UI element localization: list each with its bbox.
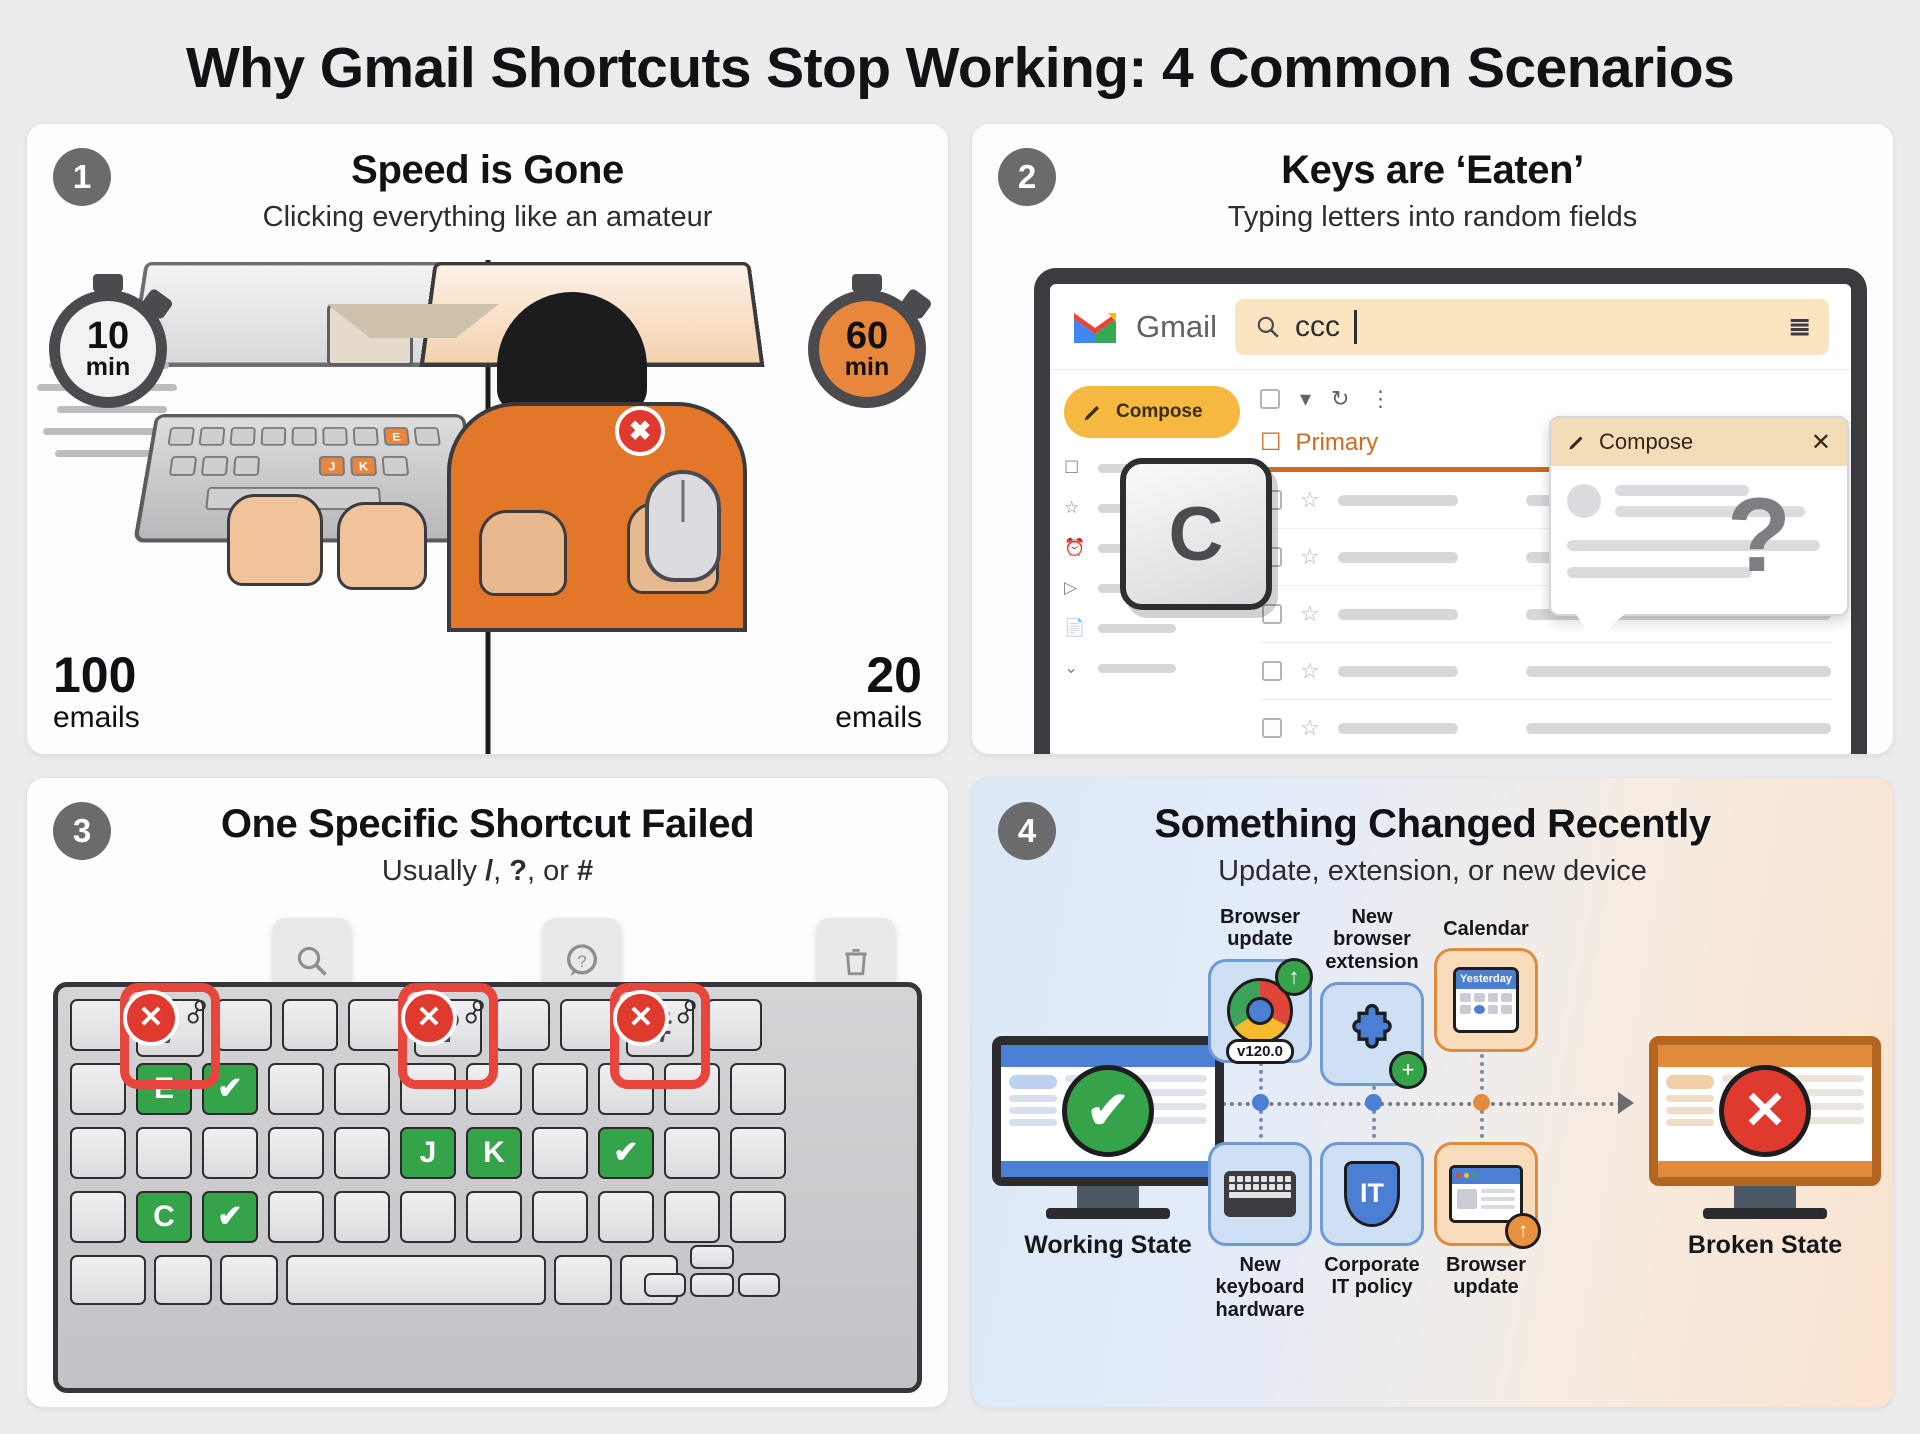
calendar-day-label: Yesterday <box>1456 970 1516 989</box>
row-checkbox[interactable] <box>1262 661 1282 681</box>
envelope-icon <box>327 304 413 366</box>
list-toolbar: ▾ ↻ ⋮ <box>1260 386 1833 412</box>
trash-icon <box>839 944 873 978</box>
cause-label: Calendar <box>1434 918 1538 941</box>
stopwatch-unit: min <box>845 354 889 380</box>
question-mark-glyph: ? <box>1727 483 1791 588</box>
keyboard-key <box>664 1191 720 1243</box>
keyboard-key <box>494 999 550 1051</box>
monitor-base <box>1046 1208 1170 1219</box>
draft-icon: 📄 <box>1064 618 1084 638</box>
cause-icon-box: Yesterday <box>1434 948 1538 1052</box>
panel-number-badge: 3 <box>53 802 111 860</box>
avatar <box>1567 484 1601 518</box>
email-count-label: emails <box>835 700 922 736</box>
inbox-icon: ☐ <box>1064 458 1084 478</box>
plus-badge-icon: + <box>1389 1051 1427 1089</box>
keyboard-illustration: / ? # E ✔ <box>53 982 922 1394</box>
gmail-toolbar: Gmail ccc ≣ <box>1050 284 1851 370</box>
keyboard-key <box>268 1191 324 1243</box>
keyboard-key <box>400 1191 456 1243</box>
subtitle-prefix: Usually <box>382 855 485 887</box>
keyboard-key <box>261 427 287 446</box>
compose-popup: Compose ✕ ? <box>1549 416 1849 616</box>
keyboard-key <box>348 999 404 1051</box>
cause-icon-box <box>1208 1142 1312 1246</box>
speed-line <box>55 450 160 457</box>
state-working: ✔ Working State <box>992 1036 1224 1260</box>
search-value: ccc <box>1295 310 1340 344</box>
compose-popup-body <box>1551 466 1847 596</box>
panel-illustration: Gmail ccc ≣ <box>972 252 1893 754</box>
keyboard-key <box>268 1127 324 1179</box>
subtitle-join: , <box>493 855 509 887</box>
keyboard-key <box>70 1255 146 1305</box>
mouse-icon <box>645 470 721 582</box>
panel-subtitle: Update, extension, or new device <box>992 855 1873 888</box>
filter-options-icon[interactable]: ≣ <box>1788 311 1809 342</box>
flow-node <box>1252 1094 1269 1111</box>
keyboard-key-J: J <box>400 1127 456 1179</box>
stopwatch-10min: 10 min <box>49 290 167 408</box>
keyboard-key <box>730 1063 786 1115</box>
panel-title: Keys are ‘Eaten’ <box>992 148 1873 192</box>
state-broken: ✕ Broken State <box>1649 1036 1881 1260</box>
keyboard-key-check: ✔ <box>202 1191 258 1243</box>
keyboard-key <box>532 1127 588 1179</box>
compose-label: Compose <box>1116 401 1203 423</box>
panel-subtitle: Typing letters into random fields <box>992 201 1873 234</box>
keyboard-key <box>70 1191 126 1243</box>
browser-titlebar <box>1658 1045 1872 1067</box>
stopwatch-unit: min <box>86 354 130 380</box>
infographic-page: Why Gmail Shortcuts Stop Working: 4 Comm… <box>0 0 1920 1434</box>
calendar-icon: Yesterday <box>1453 967 1519 1033</box>
keyboard-key-check: ✔ <box>598 1127 654 1179</box>
panel-title: One Specific Shortcut Failed <box>47 802 928 846</box>
keyboard-key <box>136 1127 192 1179</box>
shield-it-icon: IT <box>1344 1161 1400 1227</box>
red-x-badge: ✖ <box>615 406 665 456</box>
keyboard-key <box>664 1127 720 1179</box>
panel-keys-are-eaten: 2 Keys are ‘Eaten’ Typing letters into r… <box>971 123 1894 755</box>
star-icon[interactable]: ☆ <box>1300 544 1320 570</box>
flow-node <box>1473 1094 1490 1111</box>
panel-grid: 1 Speed is Gone Clicking everything like… <box>26 123 1894 1408</box>
email-count-number: 100 <box>53 650 140 700</box>
keyboard-key-K: K <box>466 1127 522 1179</box>
panel-one-specific-shortcut-failed: 3 One Specific Shortcut Failed Usually /… <box>26 777 949 1409</box>
panel-title: Speed is Gone <box>47 148 928 192</box>
stopwatch-60min: 60 min <box>808 290 926 408</box>
panel-title: Something Changed Recently <box>992 802 1873 846</box>
keyboard-key <box>70 1127 126 1179</box>
keyboard-key <box>560 999 616 1051</box>
keyboard-key <box>554 1255 612 1305</box>
keyboard-key <box>154 1255 212 1305</box>
sidebar-item[interactable]: ⌄ <box>1064 658 1236 678</box>
panel-number-badge: 1 <box>53 148 111 206</box>
keyboard-key <box>730 1191 786 1243</box>
broken-key-status: ✕ <box>401 990 457 1046</box>
broken-key-status: ✕ <box>123 990 179 1046</box>
arrow-up-badge-icon: ↑ <box>1505 1213 1541 1249</box>
gmail-logo-icon <box>1072 310 1118 344</box>
browser-window-icon <box>1449 1165 1523 1223</box>
chevron-down-icon[interactable]: ▾ <box>1300 386 1311 412</box>
cause-label: Browser update <box>1434 1254 1538 1300</box>
monitor-stand <box>1077 1186 1139 1208</box>
cause-icon-box: ↑ v120.0 <box>1208 959 1312 1063</box>
state-label-working: Working State <box>992 1231 1224 1260</box>
close-icon[interactable]: ✕ <box>1811 428 1831 457</box>
cause-icon-box: + <box>1320 982 1424 1086</box>
stopwatch-stem <box>852 274 882 292</box>
cause-calendar: Calendar Yesterday <box>1434 918 1538 1053</box>
broken-key-status: ✕ <box>613 990 669 1046</box>
hand-slow-left <box>479 510 567 596</box>
cause-it-policy: IT Corporate IT policy <box>1320 1142 1424 1300</box>
star-icon[interactable]: ☆ <box>1300 715 1320 741</box>
stopwatch-value: 10 <box>87 318 129 354</box>
arrow-up-badge-icon: ↑ <box>1275 958 1313 996</box>
inbox-tab-icon: ☐ <box>1260 428 1282 457</box>
cause-icon-box: IT <box>1320 1142 1424 1246</box>
keyboard-key <box>201 456 229 476</box>
arrow-left-key <box>644 1273 686 1297</box>
tab-primary-label: Primary <box>1296 429 1379 457</box>
star-icon[interactable]: ☆ <box>1300 601 1320 627</box>
clock-icon: ⏰ <box>1064 538 1084 558</box>
cause-label: New browser extension <box>1320 906 1424 974</box>
flow-connector <box>1222 1102 1622 1106</box>
panel-subtitle: Usually /, ?, or # <box>47 855 928 888</box>
compose-popup-title: Compose <box>1599 429 1693 455</box>
email-count-number: 20 <box>835 650 922 700</box>
status-badge-error: ✕ <box>1719 1065 1811 1157</box>
keyboard-key <box>598 1191 654 1243</box>
monitor-base <box>1703 1208 1827 1219</box>
compose-popup-header: Compose ✕ <box>1551 418 1847 466</box>
star-icon[interactable]: ☆ <box>1300 658 1320 684</box>
subtitle-last-join: , or <box>527 855 577 887</box>
row-checkbox[interactable] <box>1262 718 1282 738</box>
version-badge: v120.0 <box>1226 1039 1294 1064</box>
message-row[interactable]: ☆ <box>1260 643 1833 700</box>
search-icon <box>294 943 330 979</box>
panel-illustration: ✔ Working State <box>972 906 1893 1408</box>
keyboard-key <box>229 427 255 446</box>
send-icon: ▷ <box>1064 578 1084 598</box>
hand-right <box>337 502 427 590</box>
row-checkbox[interactable] <box>1262 604 1282 624</box>
subtitle-key-question: ? <box>509 855 527 887</box>
panel-something-changed-recently: 4 Something Changed Recently Update, ext… <box>971 777 1894 1409</box>
speech-bubble-tail <box>1575 612 1627 642</box>
subtitle-key-slash: / <box>485 855 493 887</box>
keyboard-spacebar <box>286 1255 546 1305</box>
more-options-icon[interactable]: ⋮ <box>1369 386 1391 412</box>
svg-text:?: ? <box>577 951 586 970</box>
keyboard-key <box>706 999 762 1051</box>
message-row[interactable]: ☆ <box>1260 700 1833 755</box>
keyboard-key <box>282 999 338 1051</box>
keyboard-key-K: K <box>350 456 377 476</box>
gmail-search-input[interactable]: ccc ≣ <box>1235 299 1829 355</box>
keyboard-key <box>532 1063 588 1115</box>
flow-node <box>1365 1094 1382 1111</box>
status-badge-ok: ✔ <box>1062 1065 1154 1157</box>
chevron-down-icon: ⌄ <box>1064 658 1084 678</box>
keyboard-key <box>334 1063 390 1115</box>
keyboard-icon <box>1224 1171 1296 1217</box>
panel-illustration: 10 min 60 min <box>27 252 948 754</box>
panel-subtitle: Clicking everything like an amateur <box>47 201 928 234</box>
email-count-slow: 20 emails <box>835 650 922 736</box>
state-label-broken: Broken State <box>1649 1231 1881 1260</box>
panel-header: Speed is Gone Clicking everything like a… <box>27 124 948 234</box>
panel-illustration: ? / ? # <box>27 906 948 1408</box>
panel-speed-is-gone: 1 Speed is Gone Clicking everything like… <box>26 123 949 755</box>
keyboard-key-C: C <box>136 1191 192 1243</box>
star-icon[interactable]: ☆ <box>1300 487 1320 513</box>
sidebar-item[interactable]: 📄 <box>1064 618 1236 638</box>
keyboard-key <box>466 1191 522 1243</box>
panel-header: Keys are ‘Eaten’ Typing letters into ran… <box>972 124 1893 234</box>
keyboard-key <box>167 427 195 446</box>
cause-icon-box: ↑ <box>1434 1142 1538 1246</box>
keyboard-key <box>268 1063 324 1115</box>
email-count-fast: 100 emails <box>53 650 140 736</box>
subtitle-key-hash: # <box>577 855 593 887</box>
keyboard-key <box>414 427 441 446</box>
keyboard-key <box>292 427 317 446</box>
stopwatch-stem <box>93 274 123 292</box>
monitor-stand <box>1734 1186 1796 1208</box>
gmail-brand-label: Gmail <box>1136 309 1217 345</box>
keyboard-key <box>198 427 225 446</box>
cause-new-extension: New browser extension + <box>1320 906 1424 1086</box>
keyboard-key <box>334 1191 390 1243</box>
arrow-right-key <box>738 1273 780 1297</box>
keyboard-key <box>334 1127 390 1179</box>
arrow-up-key <box>690 1245 734 1269</box>
keyboard-key <box>202 1127 258 1179</box>
cause-new-keyboard: New keyboard hardware <box>1208 1142 1312 1322</box>
keyboard-key-J: J <box>319 456 345 476</box>
keyboard-key <box>322 427 347 446</box>
select-all-checkbox[interactable] <box>1260 389 1280 409</box>
keyboard-key <box>70 999 126 1051</box>
search-icon <box>1255 314 1281 340</box>
keyboard-key <box>532 1191 588 1243</box>
monitor-screen: ✕ <box>1649 1036 1881 1186</box>
keyboard-key <box>169 456 197 476</box>
star-icon: ☆ <box>1064 498 1084 518</box>
cause-label: Corporate IT policy <box>1320 1254 1424 1300</box>
refresh-icon[interactable]: ↻ <box>1331 386 1349 412</box>
keyboard-key-E: E <box>383 427 410 446</box>
keyboard-key <box>730 1127 786 1179</box>
monitor-screen: ✔ <box>992 1036 1224 1186</box>
cause-label: New keyboard hardware <box>1208 1254 1312 1322</box>
keyboard-key <box>220 1255 278 1305</box>
compose-button[interactable]: Compose <box>1064 386 1240 438</box>
panel-number-badge: 4 <box>998 802 1056 860</box>
keyboard-key <box>353 427 379 446</box>
cause-browser-update-top: Browser update ↑ v120.0 <box>1208 906 1312 1064</box>
keyboard-key <box>70 1063 126 1115</box>
hand-left <box>227 494 323 586</box>
keyboard-key <box>216 999 272 1051</box>
keyboard-key <box>382 456 410 476</box>
panel-number-badge: 2 <box>998 148 1056 206</box>
page-title: Why Gmail Shortcuts Stop Working: 4 Comm… <box>26 22 1894 123</box>
stopwatch-value: 60 <box>846 318 888 354</box>
panel-header: One Specific Shortcut Failed Usually /, … <box>27 778 948 888</box>
panel-header: Something Changed Recently Update, exten… <box>972 778 1893 888</box>
flow-arrowhead-icon <box>1618 1092 1634 1114</box>
pencil-icon <box>1082 401 1104 423</box>
cause-browser-update-bottom: ↑ Browser update <box>1434 1142 1538 1300</box>
text-caret <box>1354 310 1357 344</box>
pressed-key-c: C <box>1120 458 1272 610</box>
help-icon: ? <box>562 941 602 981</box>
stopwatch-knob <box>899 287 933 320</box>
cause-label: Browser update <box>1208 906 1312 952</box>
email-count-label: emails <box>53 700 140 736</box>
arrow-down-key <box>690 1273 734 1297</box>
browser-titlebar <box>1001 1045 1215 1067</box>
pencil-icon <box>1567 432 1587 452</box>
keyboard-key <box>233 456 260 476</box>
